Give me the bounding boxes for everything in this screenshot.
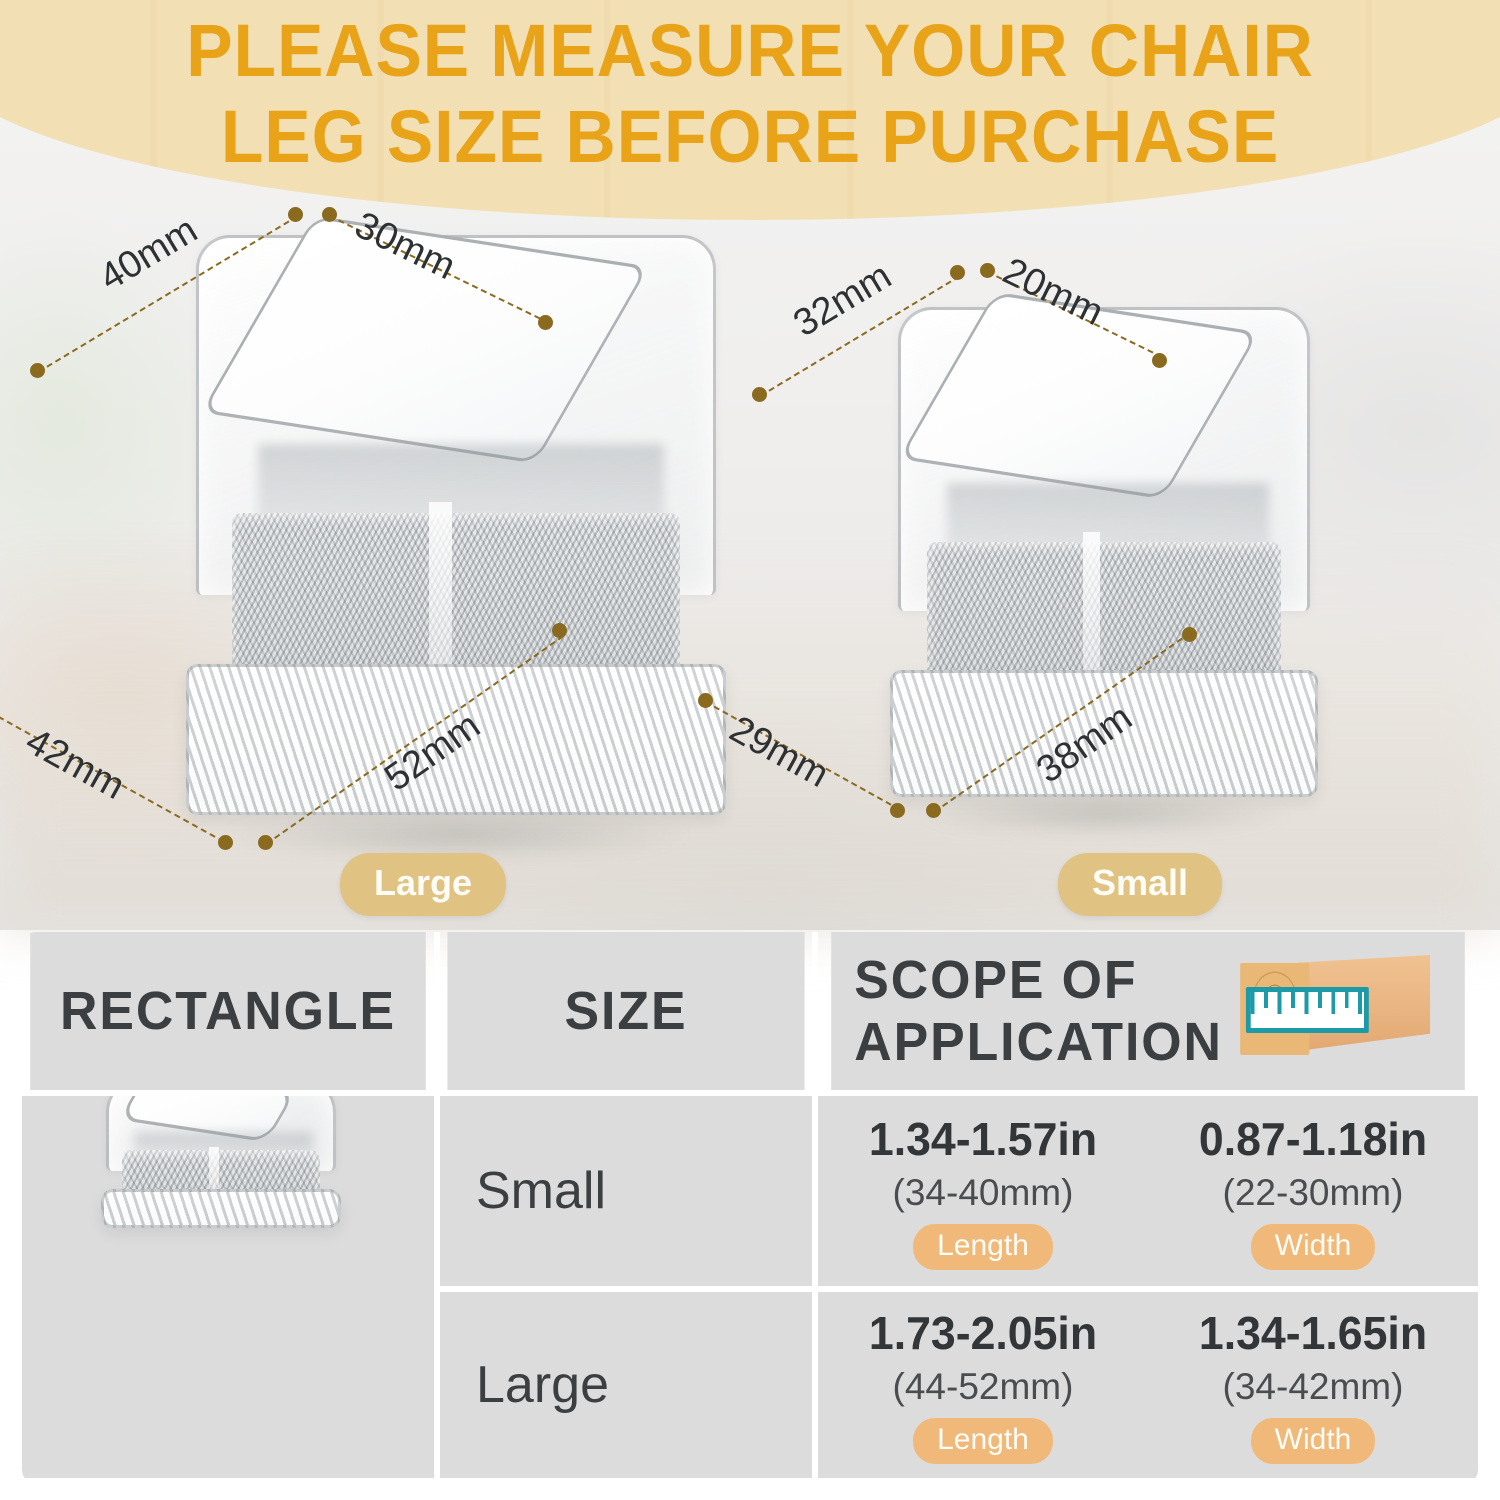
table-header-rectangle: RECTANGLE (30, 932, 426, 1090)
length-tag: Length (913, 1224, 1053, 1270)
badge-small: Small (1058, 853, 1222, 916)
table-cell-scope-small: 1.34-1.57in (34-40mm) Length 0.87-1.18in… (818, 1096, 1478, 1286)
length-mm: (44-52mm) (818, 1366, 1148, 1408)
dim-dot (552, 623, 567, 638)
product-photo-area: 40mm 30mm 42mm 52mm Large (0, 175, 1500, 935)
ruler-ticks-large (1251, 992, 1364, 1014)
table-header-size: SIZE (447, 932, 804, 1090)
dim-label-40mm: 40mm (92, 209, 205, 300)
table-cell-size-small: Small (440, 1096, 812, 1286)
length-tag: Length (913, 1418, 1053, 1464)
dim-label-29mm: 29mm (722, 708, 835, 797)
table-header-scope-of-application: SCOPE OF APPLICATION (831, 932, 1465, 1090)
product-cap-photo (106, 1096, 336, 1228)
specification-table: RECTANGLE SIZE SCOPE OF APPLICATION (22, 932, 1478, 1484)
table-cell-scope-large: 1.73-2.05in (44-52mm) Length 1.34-1.65in… (818, 1292, 1478, 1478)
badge-large: Large (340, 853, 506, 916)
wood-beam-ruler-icon (1240, 951, 1430, 1071)
scope-header-text: SCOPE OF APPLICATION (854, 949, 1223, 1073)
banner-title: PLEASE MEASURE YOUR CHAIR LEG SIZE BEFOR… (0, 8, 1500, 180)
cap-ribbed-base (101, 1189, 340, 1228)
chair-leg-photo (22, 1096, 434, 1286)
scope-length-small: 1.34-1.57in (34-40mm) Length (818, 1112, 1148, 1270)
banner-title-line-2: LEG SIZE BEFORE PURCHASE (0, 94, 1500, 180)
scope-line-1: SCOPE OF (854, 949, 1223, 1011)
dim-label-42mm: 42mm (18, 720, 131, 809)
table-cell-product-photo (22, 1096, 434, 1478)
ruler-icon (1246, 987, 1369, 1033)
cap-ground-shadow (914, 792, 1293, 836)
column-divider (812, 932, 818, 1090)
infographic-page: PLEASE MEASURE YOUR CHAIR LEG SIZE BEFOR… (0, 0, 1500, 1500)
scope-width-small: 0.87-1.18in (22-30mm) Width (1148, 1112, 1478, 1270)
dim-dot (218, 835, 233, 850)
column-divider (434, 932, 440, 1090)
width-tag: Width (1251, 1418, 1376, 1464)
width-inches: 1.34-1.65in (1153, 1306, 1473, 1360)
banner-title-line-1: PLEASE MEASURE YOUR CHAIR (0, 8, 1500, 94)
dim-label-32mm: 32mm (786, 255, 899, 346)
width-mm: (22-30mm) (1148, 1172, 1478, 1214)
length-inches: 1.34-1.57in (823, 1112, 1143, 1166)
length-inches: 1.73-2.05in (823, 1306, 1143, 1360)
scope-line-2: APPLICATION (854, 1011, 1223, 1073)
width-mm: (34-42mm) (1148, 1366, 1478, 1408)
table-cell-size-large: Large (440, 1292, 812, 1478)
width-tag: Width (1251, 1224, 1376, 1270)
scope-length-large: 1.73-2.05in (44-52mm) Length (818, 1306, 1148, 1464)
width-inches: 0.87-1.18in (1153, 1112, 1473, 1166)
scope-width-large: 1.34-1.65in (34-42mm) Width (1148, 1306, 1478, 1464)
length-mm: (34-40mm) (818, 1172, 1148, 1214)
